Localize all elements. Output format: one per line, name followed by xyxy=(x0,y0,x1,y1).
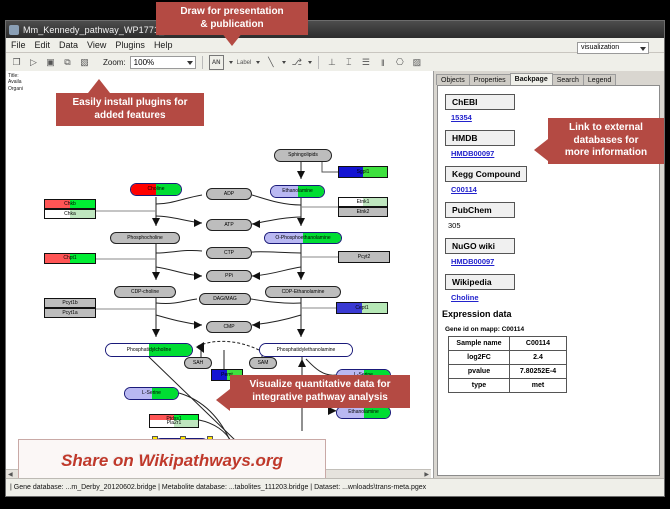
metabolite-node-phosphatidylethanolamine[interactable]: Phosphatidylethanolamine xyxy=(259,343,353,357)
zoom-value: 100% xyxy=(134,58,154,67)
gene-node-pcyt1b[interactable]: Pcyt1b xyxy=(44,298,96,308)
copy-icon[interactable]: ⧉ xyxy=(61,56,74,69)
node-label: Phosphatidylethanolamine xyxy=(277,348,336,353)
app-icon xyxy=(9,25,19,35)
menu-item-view[interactable]: View xyxy=(87,40,106,50)
metabolite-node-cdp-ethanolamine[interactable]: CDP-Ethanolamine xyxy=(265,286,341,298)
gene-node-cept1[interactable]: Cept1 xyxy=(336,302,388,314)
tab-properties[interactable]: Properties xyxy=(469,74,511,85)
node-label: PPi xyxy=(225,274,233,279)
window-title-bar: Mm_Kennedy_pathway_WP1771_45176.gpml xyxy=(6,21,664,38)
section-header-chebi: ChEBI xyxy=(445,94,515,110)
toolbar-separator xyxy=(202,56,203,69)
node-label: Sgpl1 xyxy=(357,170,370,175)
gene-node-chka[interactable]: Chka xyxy=(44,209,96,219)
menu-item-edit[interactable]: Edit xyxy=(35,40,51,50)
gene-node-chkb[interactable]: Chkb xyxy=(44,199,96,209)
gene-node-pla2r1[interactable]: Pla2r1 xyxy=(149,419,199,428)
chevron-down-icon xyxy=(187,61,193,65)
metabolite-node-atp[interactable]: ATP xyxy=(206,219,252,231)
backpage-section-kegg: Kegg Compound C00114 xyxy=(445,164,659,194)
metabolite-node-choline[interactable]: Choline xyxy=(130,183,182,196)
callout-visualize: Visualize quantitative data for integrat… xyxy=(230,375,410,408)
section-header-kegg: Kegg Compound xyxy=(445,166,527,182)
node-label: Pcyt1a xyxy=(62,311,77,316)
node-label: SAH xyxy=(193,361,203,366)
tool-bar: ❐ ▷ ▣ ⧉ ▧ Zoom: 100% AN Label ╲ ⎇ ⊥ ⌶ ☰ … xyxy=(6,53,664,73)
node-label: Chka xyxy=(64,212,76,217)
node-label: ADP xyxy=(224,192,234,197)
save-icon[interactable]: ▣ xyxy=(44,56,57,69)
node-label: Pla2r1 xyxy=(167,421,181,426)
row-value: 2.4 xyxy=(510,351,567,365)
pathway-canvas[interactable]: Title: Availa Organi xyxy=(6,71,434,478)
node-label: Cept1 xyxy=(355,306,368,311)
node-label: Choline xyxy=(148,187,165,192)
metabolite-node-phosphatidylcholine[interactable]: Phosphatidylcholine xyxy=(105,343,193,357)
expression-data-title: Expression data xyxy=(442,309,659,319)
order-icon[interactable]: ▨ xyxy=(410,56,423,69)
label-chevron-down-icon[interactable] xyxy=(256,61,260,64)
datanode-icon[interactable]: AN xyxy=(209,55,224,70)
scroll-right-icon[interactable]: ▶ xyxy=(424,471,429,478)
application-window: Mm_Kennedy_pathway_WP1771_45176.gpml Fil… xyxy=(5,20,665,497)
metabolite-node-cdp-choline[interactable]: CDP-choline xyxy=(114,286,176,298)
backpage-section-pubchem: PubChem 305 xyxy=(445,200,659,230)
tab-backpage[interactable]: Backpage xyxy=(510,73,553,85)
menu-item-data[interactable]: Data xyxy=(59,40,78,50)
open-folder-icon[interactable]: ▷ xyxy=(27,56,40,69)
node-label: Phosphatidylcholine xyxy=(127,348,171,353)
paste-icon[interactable]: ▧ xyxy=(78,56,91,69)
metabolite-node-sphingolipids[interactable]: Sphingolipids xyxy=(274,149,332,162)
distribute-horizontal-icon[interactable]: ‖ xyxy=(376,56,389,69)
metabolite-node-sam[interactable]: SAM xyxy=(249,357,277,369)
side-panel-tabs: Objects Properties Backpage Search Legen… xyxy=(436,72,615,85)
row-value: 7.80252E-4 xyxy=(510,365,567,379)
metabolite-node-o-phosphoethanolamine[interactable]: O-Phosphoethanolamine xyxy=(264,232,342,244)
link-nugo[interactable]: HMDB00097 xyxy=(451,257,659,266)
node-label: CTP xyxy=(224,251,234,256)
metabolite-node-ctp[interactable]: CTP xyxy=(206,247,252,259)
section-header-wikipedia: Wikipedia xyxy=(445,274,515,290)
node-label: SAM xyxy=(258,361,269,366)
screenshot-root: Mm_Kennedy_pathway_WP1771_45176.gpml Fil… xyxy=(0,0,670,509)
status-text: | Gene database: ...m_Derby_20120602.bri… xyxy=(10,484,426,491)
callout-draw-arrow-icon xyxy=(221,32,243,46)
table-row: Sample name C00114 xyxy=(449,337,567,351)
table-row: type met xyxy=(449,379,567,393)
expression-table: Sample name C00114 log2FC 2.4 pvalue 7.8… xyxy=(448,336,567,393)
menu-item-help[interactable]: Help xyxy=(154,40,173,50)
node-label: CDP-choline xyxy=(131,290,159,295)
menu-item-file[interactable]: File xyxy=(11,40,26,50)
tab-search[interactable]: Search xyxy=(552,74,584,85)
metabolite-node-cmp[interactable]: CMP xyxy=(206,321,252,333)
section-header-pubchem: PubChem xyxy=(445,202,515,218)
node-label: DAG/MAG xyxy=(213,297,237,302)
node-label: Chpt1 xyxy=(63,256,76,261)
callout-external-links-arrow-icon xyxy=(534,139,548,161)
gene-id-on-mapp: Gene id on mapp: C00114 xyxy=(445,326,659,333)
tab-objects[interactable]: Objects xyxy=(436,74,470,85)
toolbar-separator-2 xyxy=(318,56,319,69)
node-label: CMP xyxy=(223,325,234,330)
callout-share: Share on Wikipathways.org xyxy=(18,439,326,478)
chevron-down-icon xyxy=(640,47,646,51)
node-label: ATP xyxy=(224,223,233,228)
row-value: C00114 xyxy=(510,337,567,351)
node-label: Etnk1 xyxy=(357,200,370,205)
node-label: Ethanolamine xyxy=(282,189,313,194)
node-label: Phosphocholine xyxy=(127,236,163,241)
zoom-label: Zoom: xyxy=(103,58,126,67)
menu-bar: File Edit Data View Plugins Help xyxy=(6,38,664,53)
row-value: met xyxy=(510,379,567,393)
node-label: Sphingolipids xyxy=(288,153,318,158)
metabolite-node-phosphocholine[interactable]: Phosphocholine xyxy=(110,232,180,244)
menu-item-plugins[interactable]: Plugins xyxy=(115,40,145,50)
node-label: O-Phosphoethanolamine xyxy=(275,236,330,241)
row-key: type xyxy=(449,379,510,393)
metabolite-node-ppi[interactable]: PPi xyxy=(206,270,252,282)
section-header-nugo: NuGO wiki xyxy=(445,238,515,254)
align-top-icon[interactable]: ⊥ xyxy=(325,56,338,69)
node-label: Etnk2 xyxy=(357,210,370,215)
scroll-left-icon[interactable]: ◀ xyxy=(8,471,13,478)
node-label: CDP-Ethanolamine xyxy=(282,290,325,295)
status-bar: | Gene database: ...m_Derby_20120602.bri… xyxy=(6,478,664,496)
visualization-combo[interactable]: visualization xyxy=(577,42,649,54)
group-icon[interactable]: ⎔ xyxy=(393,56,406,69)
gene-node-chpt1[interactable]: Chpt1 xyxy=(44,253,96,264)
table-row: pvalue 7.80252E-4 xyxy=(449,365,567,379)
distribute-vertical-icon[interactable]: ☰ xyxy=(359,56,372,69)
datanode-chevron-down-icon[interactable] xyxy=(229,61,233,64)
gene-node-pcyt1a[interactable]: Pcyt1a xyxy=(44,308,96,318)
metabolite-node-l-serine[interactable]: L-Serine xyxy=(124,387,179,400)
row-key: Sample name xyxy=(449,337,510,351)
gene-node-pcyt2[interactable]: Pcyt2 xyxy=(338,251,390,263)
metabolite-node-ethanolamine[interactable]: Ethanolamine xyxy=(270,185,325,198)
anchor-chevron-down-icon[interactable] xyxy=(308,61,312,64)
table-row: log2FC 2.4 xyxy=(449,351,567,365)
metabolite-node-dag-mag[interactable]: DAG/MAG xyxy=(199,293,251,305)
value-pubchem: 305 xyxy=(448,221,659,230)
node-label: L-Serine xyxy=(142,391,161,396)
gene-node-etnk2[interactable]: Etnk2 xyxy=(338,207,388,217)
callout-draw: Draw for presentation & publication xyxy=(156,2,308,35)
visualization-value: visualization xyxy=(581,44,619,51)
label-tool[interactable]: Label xyxy=(237,60,252,66)
node-label: Pcyt1b xyxy=(62,301,77,306)
row-key: log2FC xyxy=(449,351,510,365)
line-chevron-down-icon[interactable] xyxy=(282,61,286,64)
metabolite-node-adp[interactable]: ADP xyxy=(206,188,252,200)
callout-plugins-arrow-icon xyxy=(88,79,110,93)
backpage-section-nugo: NuGO wiki HMDB00097 xyxy=(445,236,659,266)
gene-node-sgpl1[interactable]: Sgpl1 xyxy=(338,166,388,178)
node-label: Pcyt2 xyxy=(358,255,371,260)
metabolite-node-sah[interactable]: SAH xyxy=(184,357,212,369)
backpage-section-wikipedia: Wikipedia Choline xyxy=(445,272,659,302)
node-label: Ethanolamine xyxy=(348,410,379,415)
link-wikipedia[interactable]: Choline xyxy=(451,293,659,302)
tab-legend[interactable]: Legend xyxy=(583,74,616,85)
gene-node-etnk1[interactable]: Etnk1 xyxy=(338,197,388,207)
anchor-tool-icon[interactable]: ⎇ xyxy=(290,56,303,69)
new-file-icon[interactable]: ❐ xyxy=(10,56,23,69)
link-kegg[interactable]: C00114 xyxy=(451,185,659,194)
callout-external-links: Link to external databases for more info… xyxy=(548,118,664,164)
callout-plugins: Easily install plugins for added feature… xyxy=(56,93,204,126)
align-left-icon[interactable]: ⌶ xyxy=(342,56,355,69)
zoom-combo[interactable]: 100% xyxy=(130,56,196,69)
row-key: pvalue xyxy=(449,365,510,379)
line-tool-icon[interactable]: ╲ xyxy=(264,56,277,69)
section-header-hmdb: HMDB xyxy=(445,130,515,146)
node-label: Chkb xyxy=(64,202,76,207)
callout-visualize-arrow-icon xyxy=(216,389,230,411)
